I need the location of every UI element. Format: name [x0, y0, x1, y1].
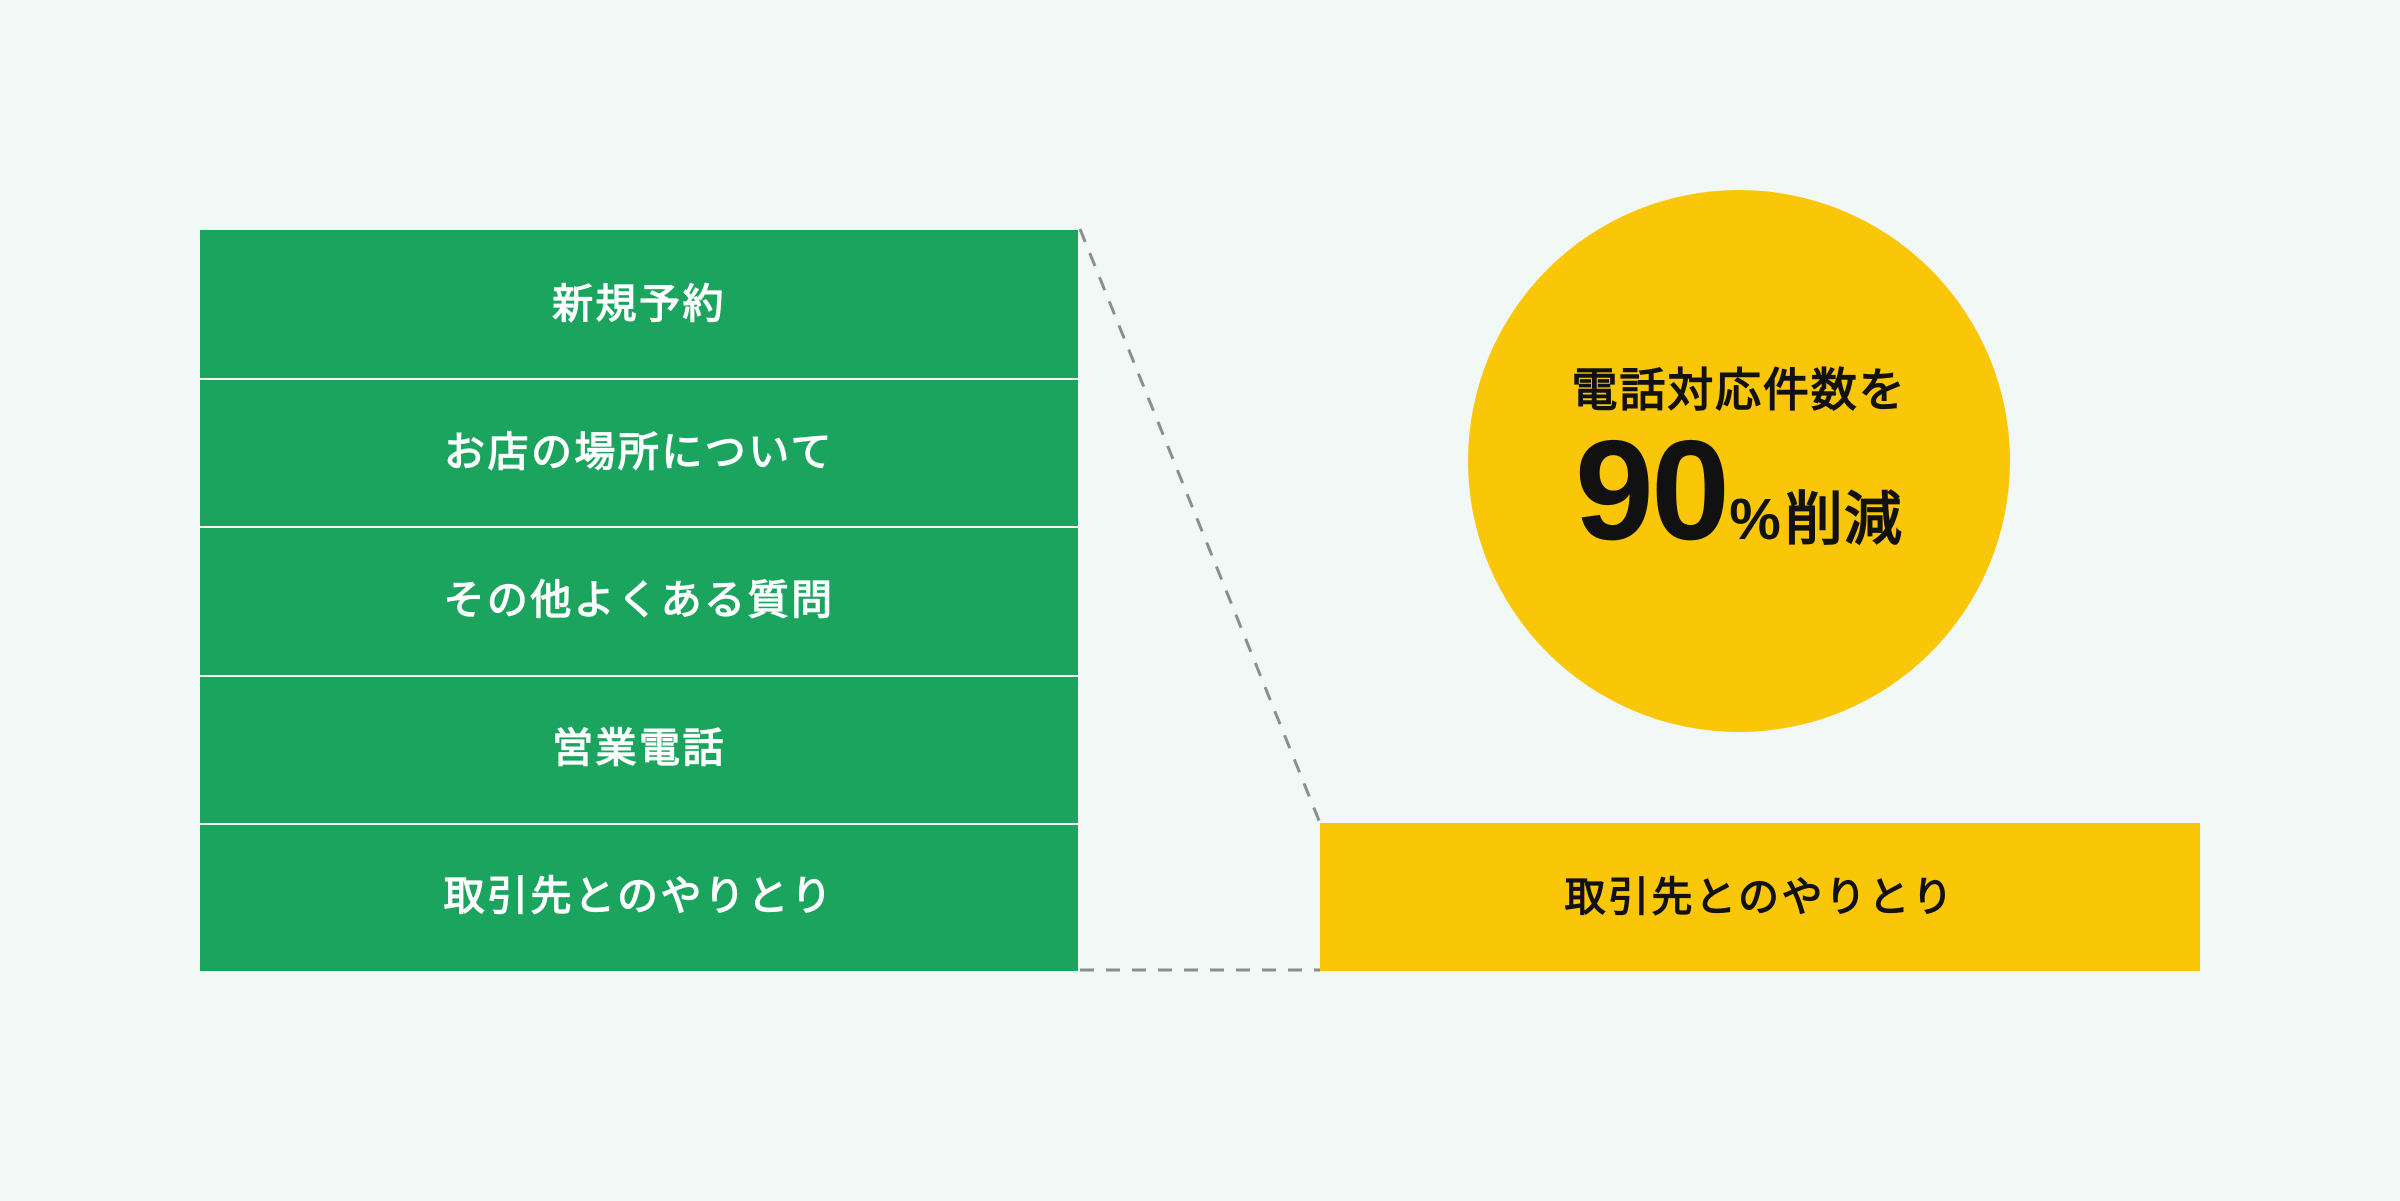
call-type-row: 取引先とのやりとり: [200, 823, 1078, 971]
call-type-label: 営業電話: [552, 728, 726, 769]
call-type-label: 取引先とのやりとり: [444, 876, 835, 917]
call-types-stack: 新規予約 お店の場所について その他よくある質問 営業電話 取引先とのやりとり: [200, 230, 1078, 971]
reduction-badge-suffix: 削減: [1785, 491, 1903, 549]
remaining-bar-label: 取引先とのやりとり: [1565, 877, 1956, 918]
call-type-label: 新規予約: [552, 284, 726, 325]
call-type-row: お店の場所について: [200, 378, 1078, 526]
call-type-label: その他よくある質問: [443, 580, 834, 621]
call-type-label: お店の場所について: [444, 432, 834, 473]
reduction-badge-number: 90: [1575, 427, 1727, 555]
remaining-bar: 取引先とのやりとり: [1320, 823, 2200, 971]
call-type-row: 営業電話: [200, 675, 1078, 823]
connector-line-upper: [1080, 229, 1320, 823]
infographic-canvas: 新規予約 お店の場所について その他よくある質問 営業電話 取引先とのやりとり …: [0, 0, 2400, 1201]
call-type-row: その他よくある質問: [200, 526, 1078, 674]
reduction-badge-caption: 電話対応件数を: [1572, 367, 1907, 413]
reduction-badge-percent: %: [1729, 491, 1781, 549]
call-type-row: 新規予約: [200, 230, 1078, 378]
reduction-badge: 電話対応件数を 90 % 削減: [1468, 190, 2010, 732]
reduction-badge-figure: 90 % 削減: [1575, 427, 1903, 555]
